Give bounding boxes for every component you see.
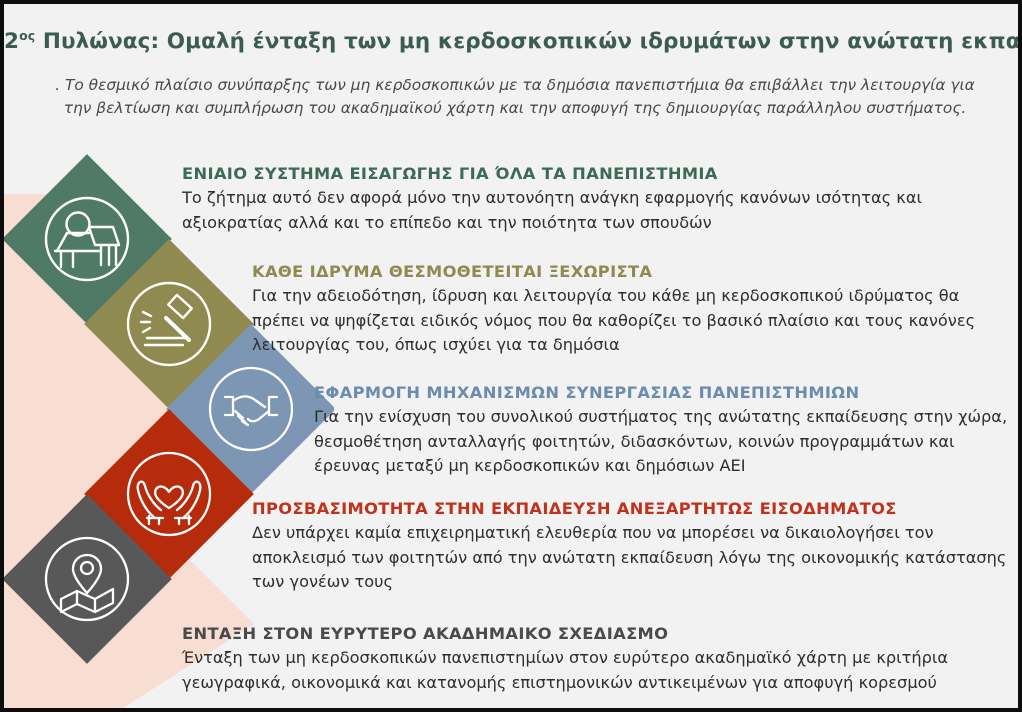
section-block-2: ΚΑΘΕ ΙΔΡΥΜΑ ΘΕΣΜΟΘΕΤΕΙΤΑΙ ΞΕΧΩΡΙΣΤΑ Για … (252, 262, 1012, 358)
section-block-4: ΠΡΟΣΒΑΣΙΜΟΤΗΤΑ ΣΤΗΝ ΕΚΠΑΙΔΕΥΣΗ ΑΝΕΞΑΡΤΗΤ… (252, 499, 1012, 595)
section-body-4: Δεν υπάρχει καμία επιχειρηματική ελευθερ… (252, 521, 1012, 595)
subtitle: . Το θεσμικό πλαίσιο συνύπαρξης των μη κ… (50, 74, 980, 119)
section-body-2: Για την αδειοδότηση, ίδρυση και λειτουργ… (252, 284, 1012, 358)
section-block-3: ΕΦΑΡΜΟΓΗ ΜΗΧΑΝΙΣΜΩΝ ΣΥΝΕΡΓΑΣΙΑΣ ΠΑΝΕΠΙΣΤ… (314, 383, 1014, 479)
title-text: Πυλώνας: Ομαλή ένταξη των μη κερδοσκοπικ… (43, 29, 1022, 54)
section-heading-4: ΠΡΟΣΒΑΣΙΜΟΤΗΤΑ ΣΤΗΝ ΕΚΠΑΙΔΕΥΣΗ ΑΝΕΞΑΡΤΗΤ… (252, 499, 1012, 518)
section-block-1: ΕΝΙΑΙΟ ΣΥΣΤΗΜΑ ΕΙΣΑΓΩΓΗΣ ΓΙΑ ΌΛΑ ΤΑ ΠΑΝΕ… (182, 164, 1012, 235)
section-body-3: Για την ενίσχυση του συνολικού συστήματο… (314, 405, 1014, 479)
title-number: 2 (4, 29, 19, 54)
section-block-5: ΕΝΤΑΞΗ ΣΤΟΝ ΕΥΡΥΤΕΡΟ ΑΚΑΔΗΜΑΙΚΟ ΣΧΕΔΙΑΣΜ… (182, 624, 1012, 695)
section-heading-5: ΕΝΤΑΞΗ ΣΤΟΝ ΕΥΡΥΤΕΡΟ ΑΚΑΔΗΜΑΙΚΟ ΣΧΕΔΙΑΣΜ… (182, 624, 1012, 643)
section-body-1: Το ζήτημα αυτό δεν αφορά μόνο την αυτονό… (182, 186, 1012, 235)
title-superscript: ος (19, 28, 35, 43)
section-body-5: Ένταξη των μη κερδοσκοπικών πανεπιστημίω… (182, 646, 1012, 695)
section-heading-2: ΚΑΘΕ ΙΔΡΥΜΑ ΘΕΣΜΟΘΕΤΕΙΤΑΙ ΞΕΧΩΡΙΣΤΑ (252, 262, 1012, 281)
page-title: 2ος Πυλώνας: Ομαλή ένταξη των μη κερδοσκ… (4, 28, 1022, 54)
section-heading-3: ΕΦΑΡΜΟΓΗ ΜΗΧΑΝΙΣΜΩΝ ΣΥΝΕΡΓΑΣΙΑΣ ΠΑΝΕΠΙΣΤ… (314, 383, 1014, 402)
slide-canvas: 2ος Πυλώνας: Ομαλή ένταξη των μη κερδοσκ… (0, 0, 1022, 712)
section-heading-1: ΕΝΙΑΙΟ ΣΥΣΤΗΜΑ ΕΙΣΑΓΩΓΗΣ ΓΙΑ ΌΛΑ ΤΑ ΠΑΝΕ… (182, 164, 1012, 183)
